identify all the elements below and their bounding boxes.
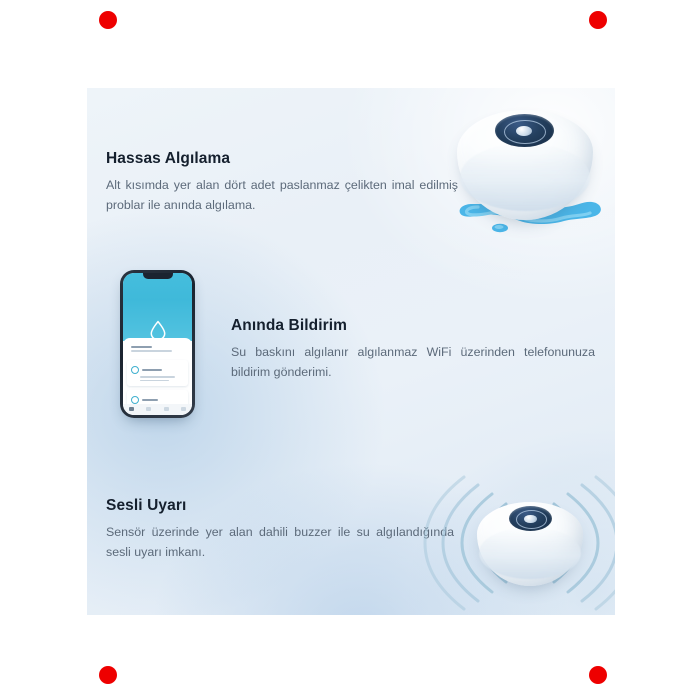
sensor-rim	[460, 143, 591, 211]
sensor-top-label	[495, 114, 553, 147]
app-notification-row[interactable]	[127, 360, 188, 386]
feature-title: Anında Bildirim	[231, 317, 595, 335]
feature-block-sesli-uyari: Sesli Uyarı Sensör üzerinde yer alan dah…	[106, 497, 454, 562]
water-sensor-device-bottom	[477, 502, 583, 586]
corner-marker-bottom-left	[99, 666, 117, 684]
tab-icon-profile[interactable]	[181, 407, 186, 411]
corner-marker-top-right	[589, 11, 607, 29]
app-tab-bar[interactable]	[123, 404, 192, 415]
placeholder-line	[140, 380, 169, 382]
placeholder-line	[140, 376, 175, 378]
feature-description: Alt kısımda yer alan dört adet paslanmaz…	[106, 175, 458, 215]
placeholder-line	[142, 369, 162, 371]
sensor-label-center-dot	[524, 515, 536, 523]
row-head	[131, 366, 184, 374]
status-circle-icon	[131, 366, 139, 374]
feature-title: Sesli Uyarı	[106, 497, 454, 515]
phone-notch	[143, 273, 173, 279]
sensor-rim	[479, 527, 581, 579]
placeholder-line	[142, 399, 158, 401]
app-section-header	[127, 342, 188, 356]
tab-icon-devices[interactable]	[146, 407, 151, 411]
placeholder-line	[131, 346, 152, 348]
corner-marker-bottom-right	[589, 666, 607, 684]
smartphone-mockup	[120, 270, 195, 418]
water-sensor-device-top	[457, 110, 593, 220]
tab-icon-scenes[interactable]	[164, 407, 169, 411]
product-feature-panel: Hassas Algılama Alt kısımda yer alan dör…	[87, 88, 615, 615]
feature-description: Su baskını algılanır algılanmaz WiFi üze…	[231, 342, 595, 382]
tab-icon-home[interactable]	[129, 407, 134, 411]
corner-marker-top-left	[99, 11, 117, 29]
feature-description: Sensör üzerinde yer alan dahili buzzer i…	[106, 522, 454, 562]
feature-block-hassas-algilama: Hassas Algılama Alt kısımda yer alan dör…	[106, 150, 458, 215]
phone-screen	[123, 273, 192, 415]
feature-title: Hassas Algılama	[106, 150, 458, 168]
status-circle-icon	[131, 396, 139, 404]
row-head	[131, 396, 184, 404]
feature-block-aninda-bildirim: Anında Bildirim Su baskını algılanır alg…	[231, 317, 595, 382]
app-content-sheet	[123, 338, 192, 415]
placeholder-line	[131, 350, 172, 352]
